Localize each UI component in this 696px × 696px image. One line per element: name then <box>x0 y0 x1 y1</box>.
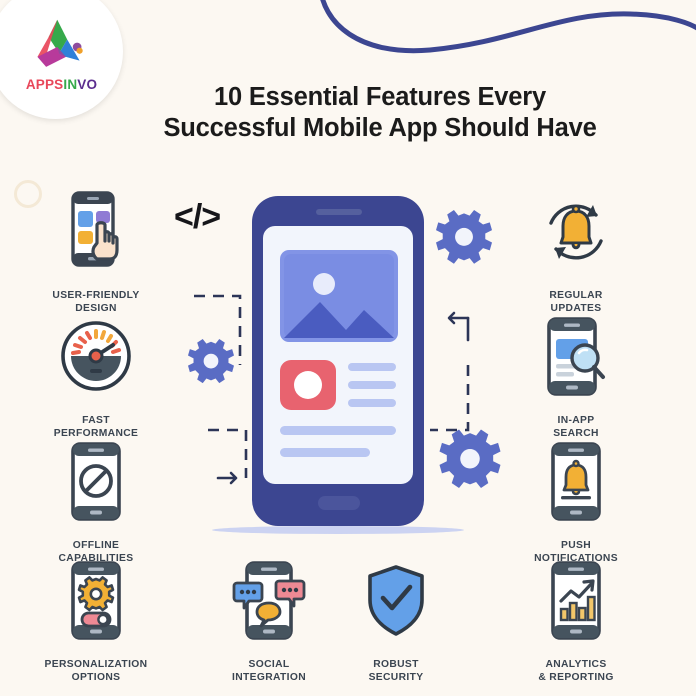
feature-label: PERSONALIZATIONOPTIONS <box>37 647 155 684</box>
feature-label: SOCIALINTEGRATION <box>210 647 328 684</box>
feature-label: REGULARUPDATES <box>517 278 635 315</box>
phone-bell-icon <box>517 438 635 526</box>
feature-label: IN-APPSEARCH <box>517 403 635 440</box>
page-title-line1: 10 Essential Features Every <box>120 82 640 113</box>
code-symbol-icon: </> <box>174 198 220 237</box>
page-title-line2: Successful Mobile App Should Have <box>120 113 640 144</box>
phone-chart-icon <box>517 557 635 645</box>
hero-illustration: </> <box>168 190 528 540</box>
hero-phone-graphic <box>168 190 528 540</box>
feature-user-friendly-design[interactable]: USER-FRIENDLYDESIGN <box>37 188 155 315</box>
page-title: 10 Essential Features Every Successful M… <box>120 82 640 144</box>
feature-in-app-search[interactable]: IN-APPSEARCH <box>517 313 635 440</box>
infographic-canvas: APPSINVO 10 Essential Features Every Suc… <box>0 0 696 696</box>
phone-offline-icon <box>37 438 155 526</box>
phone-search-icon <box>517 313 635 401</box>
wave-decoration <box>300 0 696 74</box>
feature-label: ANALYTICS& REPORTING <box>517 647 635 684</box>
logo-wordmark: APPSINVO <box>26 77 97 92</box>
feature-label: FASTPERFORMANCE <box>37 403 155 440</box>
feature-fast-performance[interactable]: FASTPERFORMANCE <box>37 313 155 440</box>
feature-label: USER-FRIENDLYDESIGN <box>37 278 155 315</box>
phone-settings-icon <box>37 557 155 645</box>
feature-regular-updates[interactable]: REGULARUPDATES <box>517 188 635 315</box>
appsinvo-logo[interactable]: APPSINVO <box>0 0 123 119</box>
feature-social-integration[interactable]: SOCIALINTEGRATION <box>210 557 328 684</box>
bell-refresh-icon <box>517 188 635 276</box>
feature-analytics-reporting[interactable]: ANALYTICS& REPORTING <box>517 557 635 684</box>
feature-offline-capabilities[interactable]: OFFLINECAPABILITIES <box>37 438 155 565</box>
feature-push-notifications[interactable]: PUSHNOTIFICATIONS <box>517 438 635 565</box>
speedometer-icon <box>37 313 155 401</box>
phone-touch-icon <box>37 188 155 276</box>
logo-word-apps: APPS <box>26 77 64 92</box>
logo-word-in: IN <box>63 77 77 92</box>
feature-label: ROBUSTSECURITY <box>337 647 455 684</box>
logo-word-vo: VO <box>77 77 97 92</box>
feature-personalization-options[interactable]: PERSONALIZATIONOPTIONS <box>37 557 155 684</box>
phone-chat-icon <box>210 557 328 645</box>
shield-check-icon <box>337 557 455 645</box>
feature-robust-security[interactable]: ROBUSTSECURITY <box>337 557 455 684</box>
logo-mark-icon <box>30 18 92 76</box>
